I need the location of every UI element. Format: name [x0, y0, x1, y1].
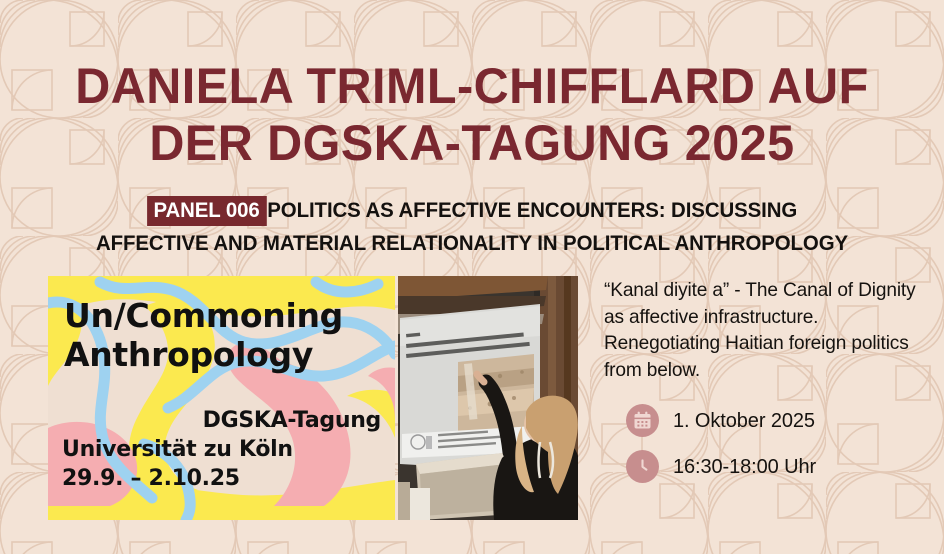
flyer-subtitle-dates: 29.9. – 2.10.25	[62, 467, 240, 491]
page-title-line-2: DER DGSKA-TAGUNG 2025	[14, 117, 930, 169]
calendar-icon	[626, 404, 659, 437]
panel-title-line-1: POLITICS AS AFFECTIVE ENCOUNTERS: DISCUS…	[267, 198, 797, 222]
conference-flyer-image: Un/Commoning Anthropology DGSKA-Tagung U…	[48, 276, 395, 520]
page-title-line-1: DANIELA TRIML-CHIFFLARD AUF	[14, 60, 930, 112]
panel-number-badge: PANEL 006	[147, 196, 267, 226]
event-time-label: 16:30-18:00 Uhr	[673, 456, 816, 478]
panel-title-line-2: AFFECTIVE AND MATERIAL RELATIONALITY IN …	[24, 229, 921, 258]
event-time-row: 16:30-18:00 Uhr	[626, 450, 816, 483]
speaker-photo	[398, 276, 578, 520]
event-date-row: 1. Oktober 2025	[626, 404, 815, 437]
event-date-label: 1. Oktober 2025	[673, 410, 815, 432]
panel-subtitle: PANEL 006POLITICS AS AFFECTIVE ENCOUNTER…	[24, 196, 921, 258]
clock-icon	[626, 450, 659, 483]
event-announcement-poster: DANIELA TRIML-CHIFFLARD AUF DER DGSKA-TA…	[0, 0, 944, 554]
speaker-photo-illustration	[398, 276, 578, 520]
talk-abstract: “Kanal diyite a” - The Canal of Dignity …	[604, 277, 918, 383]
flyer-title-line-2: Anthropology	[64, 338, 313, 372]
flyer-subtitle-conference: DGSKA-Tagung	[203, 409, 381, 433]
flyer-title-line-1: Un/Commoning	[64, 299, 343, 333]
flyer-subtitle-venue: Universität zu Köln	[62, 438, 293, 462]
